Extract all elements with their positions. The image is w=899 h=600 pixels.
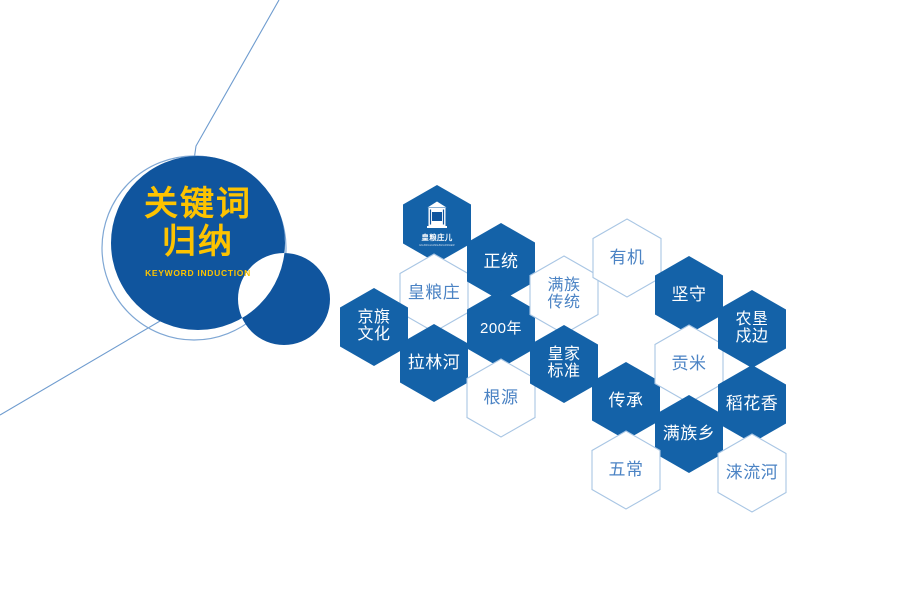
hexagon-jianshou[interactable]	[655, 256, 723, 334]
hexagon-year200[interactable]	[467, 290, 535, 368]
hexagon-nongkencb[interactable]	[718, 290, 786, 368]
hexagon-lalinhe[interactable]	[400, 324, 468, 402]
hexagon-manzuxiang[interactable]	[655, 395, 723, 473]
hexagon-huanglzh[interactable]	[400, 254, 468, 332]
hexagon-jingqiwh[interactable]	[340, 288, 408, 366]
hexagon-genyuan[interactable]	[467, 359, 535, 437]
hexagon-zhengtong[interactable]	[467, 223, 535, 301]
hexagon-manzuct[interactable]	[530, 256, 598, 334]
hexagon-chuancheng[interactable]	[592, 362, 660, 440]
granary-base	[427, 226, 447, 228]
granary-window	[432, 212, 442, 221]
granary-rib-0	[430, 210, 431, 225]
hexagon-youji[interactable]	[593, 219, 661, 297]
hexagon-lailiuhe[interactable]	[718, 434, 786, 512]
hexagon-wuchang[interactable]	[592, 431, 660, 509]
hexagon-cluster	[340, 185, 786, 512]
hexagon-gongmi[interactable]	[655, 325, 723, 403]
keyword-badge-circle[interactable]	[111, 156, 330, 345]
slide-vector-layer	[0, 0, 899, 600]
granary-rib-1	[443, 210, 444, 225]
hexagon-huangjiabz[interactable]	[530, 325, 598, 403]
slide-canvas: 关键词 归纳 KEYWORD INDUCTION 皇粮庄儿 HUANGLIANG…	[0, 0, 899, 600]
hexagon-daohuaxiang[interactable]	[718, 365, 786, 443]
